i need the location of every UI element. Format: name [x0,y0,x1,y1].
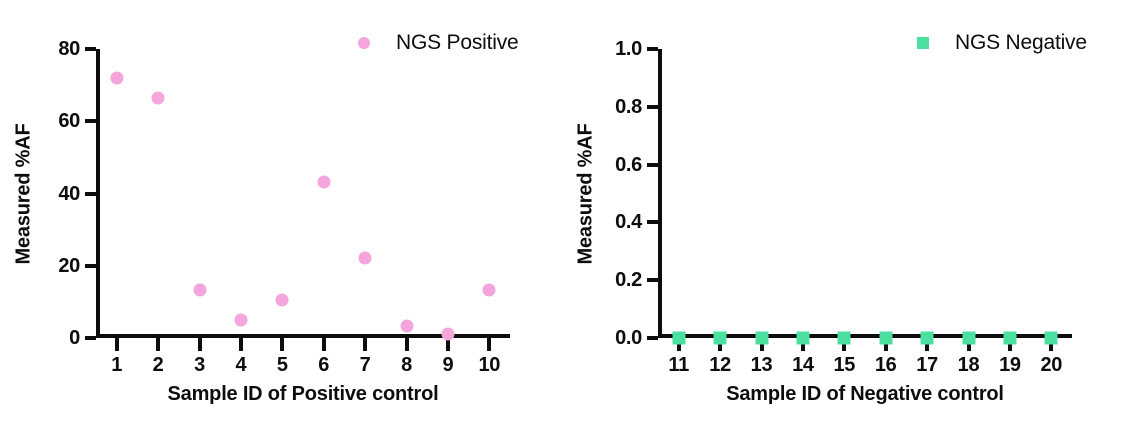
legend-marker-ngs-positive-icon [358,37,370,49]
x-tick-label-negative-3: 14 [792,355,814,375]
y-axis-title-positive: Measured %AF [10,49,36,338]
y-tick-positive-1: 20 [85,264,96,268]
data-point-negative-17 [921,332,934,345]
x-tick-positive-3: 4 [239,338,243,351]
x-tick-label-positive-5: 6 [318,355,329,375]
y-tick-negative-0: 0.0 [647,336,658,340]
x-tick-label-negative-0: 11 [668,355,689,375]
plot-area-positive: 020406080 12345678910 [96,49,510,338]
legend-marker-ngs-negative-icon [917,37,929,49]
y-tick-positive-2: 40 [85,192,96,196]
data-point-positive-7 [359,251,372,264]
data-point-positive-8 [400,320,413,333]
data-point-positive-10 [483,283,496,296]
x-axis-title-positive: Sample ID of Positive control [96,384,510,404]
x-tick-positive-5: 6 [322,338,326,351]
y-tick-label-negative-1: 0.2 [615,270,642,290]
y-tick-label-positive-0: 0 [69,328,80,348]
y-tick-label-negative-4: 0.8 [615,97,642,117]
y-tick-negative-4: 0.8 [647,105,658,109]
x-tick-label-positive-7: 8 [401,355,412,375]
y-tick-label-negative-5: 1.0 [615,39,642,59]
y-axis-title-negative: Measured %AF [572,49,598,338]
y-tick-label-positive-3: 60 [58,111,80,131]
x-tick-positive-0: 1 [115,338,119,351]
y-tick-positive-0: 0 [85,336,96,340]
data-point-negative-20 [1045,332,1058,345]
x-tick-label-negative-1: 12 [709,355,731,375]
data-point-positive-5 [276,294,289,307]
x-tick-label-negative-4: 15 [833,355,855,375]
data-point-negative-13 [755,332,768,345]
x-tick-label-positive-1: 2 [153,355,164,375]
x-tick-positive-1: 2 [156,338,160,351]
y-tick-negative-3: 0.6 [647,163,658,167]
panel-positive-control: NGS Positive Measured %AF 020406080 1234… [0,0,562,432]
y-tick-label-positive-2: 40 [58,184,80,204]
y-tick-negative-2: 0.4 [647,220,658,224]
data-point-negative-18 [962,332,975,345]
data-point-positive-6 [317,176,330,189]
y-tick-label-negative-3: 0.6 [615,155,642,175]
data-point-positive-3 [193,284,206,297]
y-axis-title-negative-text: Measured %AF [575,123,595,264]
data-point-negative-16 [879,332,892,345]
x-tick-label-positive-8: 9 [442,355,453,375]
x-tick-label-positive-0: 1 [111,355,122,375]
x-tick-label-negative-8: 19 [999,355,1021,375]
y-tick-positive-4: 80 [85,47,96,51]
x-tick-positive-2: 3 [198,338,202,351]
scatter-figure: NGS Positive Measured %AF 020406080 1234… [0,0,1124,432]
y-tick-negative-1: 0.2 [647,278,658,282]
data-point-negative-14 [796,332,809,345]
panel-negative-control: NGS Negative Measured %AF 0.00.20.40.60.… [562,0,1124,432]
y-axis-line-negative [658,49,662,338]
x-tick-positive-6: 7 [363,338,367,351]
y-tick-positive-3: 60 [85,119,96,123]
data-point-positive-1 [110,71,123,84]
y-tick-negative-5: 1.0 [647,47,658,51]
y-tick-label-negative-2: 0.4 [615,212,642,232]
x-tick-label-negative-6: 17 [916,355,938,375]
y-tick-label-negative-0: 0.0 [615,328,642,348]
x-tick-positive-4: 5 [280,338,284,351]
x-axis-title-negative: Sample ID of Negative control [658,384,1072,404]
x-tick-label-negative-2: 13 [751,355,773,375]
y-tick-label-positive-1: 20 [58,256,80,276]
x-tick-label-positive-3: 4 [235,355,246,375]
x-tick-label-positive-2: 3 [194,355,205,375]
x-tick-positive-7: 8 [405,338,409,351]
x-tick-label-positive-6: 7 [360,355,371,375]
data-point-negative-11 [672,332,685,345]
data-point-positive-4 [234,313,247,326]
y-tick-label-positive-4: 80 [58,39,80,59]
plot-area-negative: 0.00.20.40.60.81.0 11121314151617181920 [658,49,1072,338]
y-axis-title-positive-text: Measured %AF [13,123,33,264]
x-tick-label-positive-9: 10 [478,355,500,375]
data-point-positive-2 [152,91,165,104]
x-tick-positive-9: 10 [487,338,491,351]
data-point-negative-15 [838,332,851,345]
x-tick-label-positive-4: 5 [277,355,288,375]
data-point-negative-19 [1003,332,1016,345]
data-point-negative-12 [714,332,727,345]
x-tick-label-negative-5: 16 [875,355,897,375]
data-point-positive-9 [441,328,454,341]
x-tick-label-negative-9: 20 [1040,355,1062,375]
x-tick-label-negative-7: 18 [958,355,980,375]
y-axis-line-positive [96,49,100,338]
